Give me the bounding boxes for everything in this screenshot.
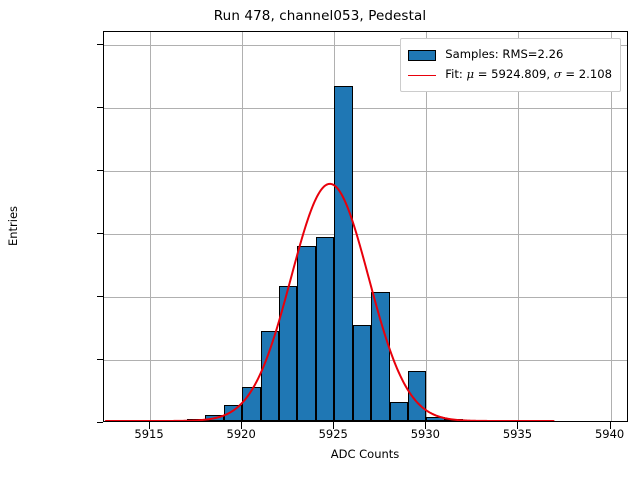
- x-tick-label: 5940: [595, 427, 624, 441]
- legend-fit-mu-value: = 5924.809,: [474, 67, 554, 81]
- x-tick-label: 5915: [134, 427, 163, 441]
- legend-item-samples: Samples: RMS=2.26: [408, 45, 612, 65]
- gridline-vertical: [150, 32, 151, 421]
- chart-title: Run 478, channel053, Pedestal: [0, 8, 640, 24]
- histogram-bar: [297, 246, 315, 421]
- y-tick-mark: [97, 107, 104, 108]
- x-tick-mark: [149, 422, 150, 429]
- histogram-bar: [390, 402, 408, 421]
- y-tick-mark: [97, 170, 104, 171]
- y-tick-mark: [97, 359, 104, 360]
- x-tick-mark: [241, 422, 242, 429]
- legend-fit-mu-symbol: μ: [466, 67, 474, 81]
- x-tick-mark: [517, 422, 518, 429]
- legend-fit-prefix: Fit:: [445, 67, 466, 81]
- legend-label-samples: Samples: RMS=2.26: [445, 49, 563, 61]
- x-tick-label: 5925: [319, 427, 348, 441]
- gridline-horizontal: [104, 171, 627, 172]
- legend-fit-sigma-symbol: σ: [554, 67, 562, 81]
- histogram-bar: [426, 417, 444, 421]
- gridline-horizontal: [104, 108, 627, 109]
- histogram-bar: [445, 419, 463, 421]
- histogram-bar: [334, 86, 352, 422]
- legend-line-icon: [408, 75, 436, 76]
- legend-label-fit: Fit: μ = 5924.809, σ = 2.108: [445, 69, 612, 81]
- histogram-bar: [242, 387, 260, 421]
- x-axis-label: ADC Counts: [331, 447, 400, 461]
- legend-patch-icon: [408, 50, 436, 61]
- histogram-bar: [408, 371, 426, 421]
- histogram-bar: [224, 405, 242, 421]
- x-tick-label: 5935: [503, 427, 532, 441]
- gridline-horizontal: [104, 297, 627, 298]
- chart-figure: Run 478, channel053, Pedestal Entries AD…: [0, 0, 640, 480]
- histogram-bar: [353, 325, 371, 421]
- y-axis-label: Entries: [6, 206, 20, 246]
- y-tick-mark: [97, 44, 104, 45]
- x-tick-mark: [425, 422, 426, 429]
- y-tick-mark: [97, 296, 104, 297]
- histogram-bar: [316, 237, 334, 421]
- plot-area: Samples: RMS=2.26 Fit: μ = 5924.809, σ =…: [103, 31, 628, 422]
- x-tick-label: 5920: [227, 427, 256, 441]
- histogram-bar: [279, 286, 297, 421]
- y-tick-mark: [97, 422, 104, 423]
- histogram-bar: [261, 331, 279, 421]
- histogram-bar: [371, 292, 389, 421]
- histogram-bar: [187, 419, 205, 421]
- legend-item-fit: Fit: μ = 5924.809, σ = 2.108: [408, 65, 612, 85]
- legend: Samples: RMS=2.26 Fit: μ = 5924.809, σ =…: [400, 38, 621, 92]
- legend-fit-sigma-value: = 2.108: [562, 67, 612, 81]
- y-tick-mark: [97, 233, 104, 234]
- gridline-horizontal: [104, 234, 627, 235]
- x-tick-mark: [333, 422, 334, 429]
- gridline-vertical: [242, 32, 243, 421]
- x-tick-label: 5930: [411, 427, 440, 441]
- x-tick-mark: [610, 422, 611, 429]
- histogram-bar: [205, 415, 223, 421]
